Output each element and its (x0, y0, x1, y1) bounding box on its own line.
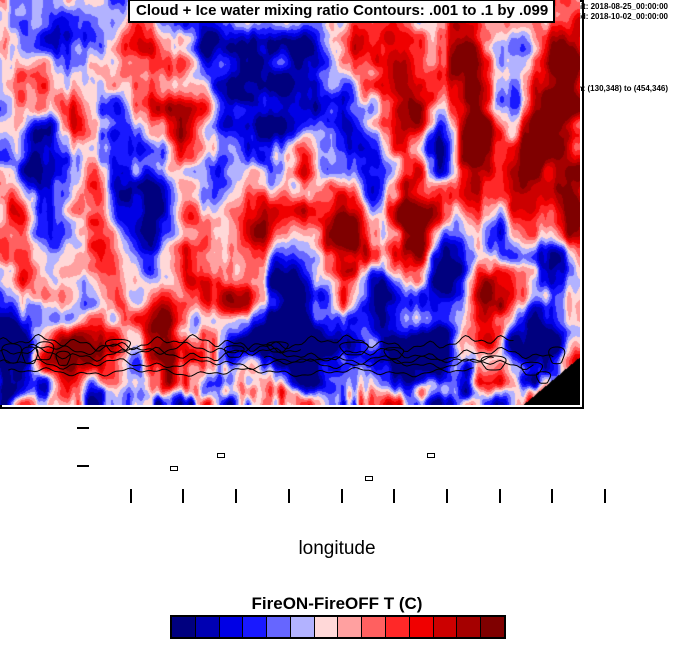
colorbar-swatch (315, 617, 339, 637)
contour-value-label (365, 476, 373, 481)
x-axis-tickmark (130, 489, 132, 503)
colorbar-swatch (220, 617, 244, 637)
y-axis-tickmark (77, 465, 89, 467)
x-axis-tickmark (446, 489, 448, 503)
x-axis-tickmark (393, 489, 395, 503)
x-axis-tickmark (182, 489, 184, 503)
colorbar-swatch (386, 617, 410, 637)
init-time-label: Init: 2018-08-25_00:00:00 (567, 2, 668, 12)
colorbar-swatch (291, 617, 315, 637)
colorbar-swatch (243, 617, 267, 637)
x-axis-label: longitude (0, 538, 674, 560)
model-time-block: Init: 2018-08-25_00:00:00 Valid: 2018-10… (567, 2, 668, 22)
colorbar-swatch (267, 617, 291, 637)
x-axis-tickmark (341, 489, 343, 503)
colorbar (170, 615, 506, 639)
y-axis-tickmark (77, 427, 89, 429)
mixing-ratio-contours (0, 0, 580, 405)
cross-section-plot (0, 0, 584, 409)
x-axis-tickmark (604, 489, 606, 503)
valid-time-label: Valid: 2018-10-02_00:00:00 (567, 12, 668, 22)
colorbar-swatch (172, 617, 196, 637)
colorbar-title: FireON-FireOFF T (C) (0, 594, 674, 614)
contour-value-label (427, 453, 435, 458)
x-axis-tickmark (288, 489, 290, 503)
contour-title-box: Cloud + Ice water mixing ratio Contours:… (128, 0, 555, 23)
colorbar-swatch (481, 617, 504, 637)
colorbar-swatch (196, 617, 220, 637)
x-axis-tickmark (551, 489, 553, 503)
colorbar-swatch (362, 617, 386, 637)
contour-value-label (217, 453, 225, 458)
colorbar-swatch (338, 617, 362, 637)
colorbar-swatch (410, 617, 434, 637)
x-axis-tickmark (235, 489, 237, 503)
contour-value-label (170, 466, 178, 471)
x-axis-tickmark (499, 489, 501, 503)
colorbar-swatch (434, 617, 458, 637)
colorbar-swatch (457, 617, 481, 637)
